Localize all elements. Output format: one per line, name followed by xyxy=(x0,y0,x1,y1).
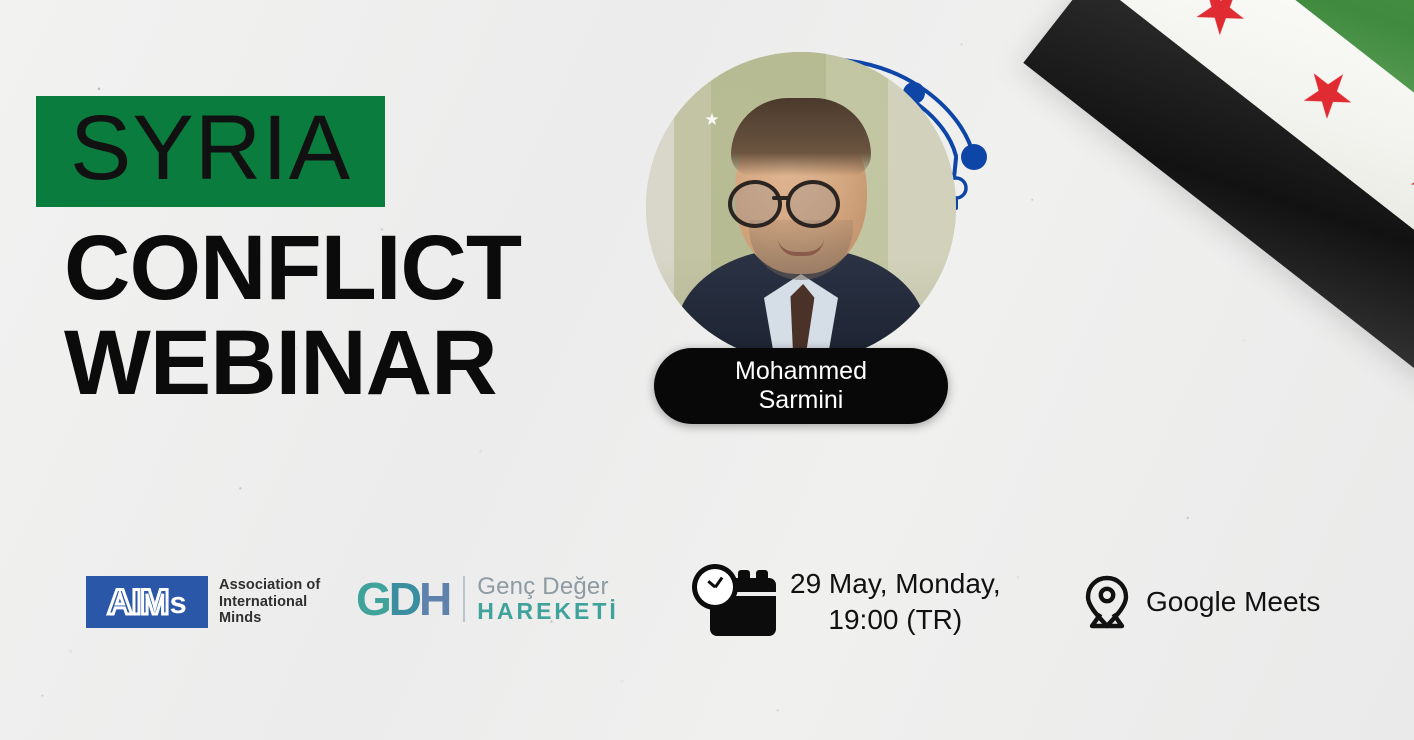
calendar-clock-icon xyxy=(692,564,776,640)
gdh-divider xyxy=(463,576,465,622)
portrait-star-accent: ★ xyxy=(704,112,720,128)
gdh-logo-text: Genç Değer HAREKETİ xyxy=(477,574,619,624)
event-date-line2: 19:00 (TR) xyxy=(790,602,1001,638)
event-location-block: Google Meets xyxy=(1082,574,1320,630)
aims-mark-superscript: s xyxy=(169,587,186,618)
aims-text-line1: Association of xyxy=(219,577,320,594)
headline-line-webinar: WEBINAR xyxy=(64,314,636,413)
gdh-text-line1: Genç Değer xyxy=(477,574,619,599)
headline-block: SYRIA CONFLICT WEBINAR xyxy=(36,96,636,413)
event-date-text: 29 May, Monday, 19:00 (TR) xyxy=(790,566,1001,638)
gdh-logo-mark: GDH xyxy=(356,576,449,622)
gdh-letter-h: H xyxy=(419,573,449,625)
aims-mark-letters: AIM xyxy=(107,585,168,620)
event-date-line1: 29 May, Monday, xyxy=(790,566,1001,602)
gdh-text-line2: HAREKETİ xyxy=(477,599,619,623)
webinar-poster: SYRIA CONFLICT WEBINAR xyxy=(0,0,1414,740)
headline-line-conflict: CONFLICT xyxy=(64,219,636,318)
portrait-glasses-left xyxy=(728,180,782,228)
gdh-letter-d: D xyxy=(389,573,419,625)
aims-text-line2: International xyxy=(219,594,320,611)
syria-highlight-box: SYRIA xyxy=(36,96,385,207)
map-pin-icon xyxy=(1082,574,1132,630)
portrait-glasses-bridge xyxy=(772,196,790,200)
gdh-letter-g: G xyxy=(356,573,389,625)
event-date-block: 29 May, Monday, 19:00 (TR) xyxy=(692,564,1001,640)
portrait-glasses-right xyxy=(786,180,840,228)
aims-logo-text: Association of International Minds xyxy=(219,577,320,627)
headline-word-syria: SYRIA xyxy=(70,100,351,197)
clock-icon xyxy=(692,564,738,610)
aims-logo: AIMs Association of International Minds xyxy=(86,576,320,628)
footer-bar: AIMs Association of International Minds … xyxy=(0,556,1414,666)
event-location-label: Google Meets xyxy=(1146,586,1320,618)
aims-logo-mark: AIMs xyxy=(86,576,208,628)
aims-text-line3: Minds xyxy=(219,610,320,627)
gdh-logo: GDH Genç Değer HAREKETİ xyxy=(356,574,619,624)
